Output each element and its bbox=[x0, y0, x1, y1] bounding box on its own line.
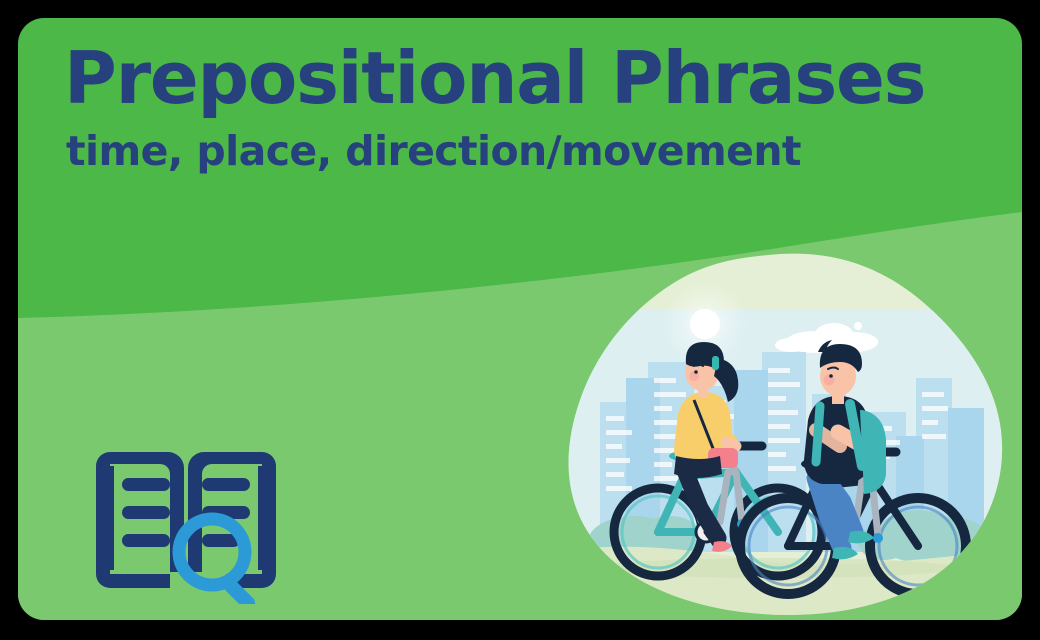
page-title: Prepositional Phrases bbox=[64, 40, 964, 118]
green-card: Prepositional Phrases time, place, direc… bbox=[18, 18, 1022, 620]
slide-canvas: Prepositional Phrases time, place, direc… bbox=[0, 0, 1040, 640]
book-search-icon bbox=[96, 442, 276, 604]
page-subtitle: time, place, direction/movement bbox=[66, 128, 964, 175]
heading-block: Prepositional Phrases time, place, direc… bbox=[64, 40, 964, 175]
two-cyclists-illustration bbox=[566, 250, 1006, 620]
